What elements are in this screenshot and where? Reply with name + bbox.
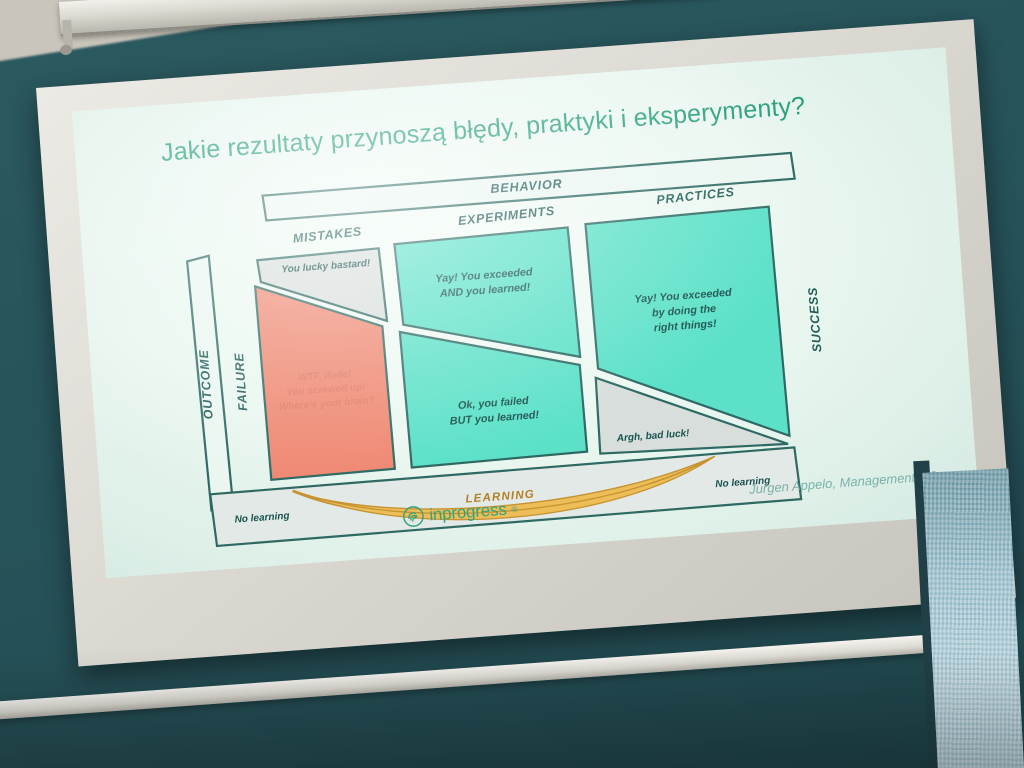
- room-scene: Jakie rezultaty przynoszą błędy, praktyk…: [0, 0, 1024, 768]
- presentation-slide: Jakie rezultaty przynoszą błędy, praktyk…: [72, 47, 980, 578]
- success-label: SUCCESS: [806, 286, 825, 352]
- roller-knob: [60, 45, 73, 56]
- inprogress-trademark: ®: [511, 504, 518, 513]
- roller-bracket: [62, 20, 73, 49]
- column-label-experiments: EXPERIMENTS: [457, 204, 555, 228]
- failure-label: FAILURE: [232, 352, 250, 411]
- outcome-axis-bar: OUTCOME: [187, 255, 234, 510]
- inprogress-logo-text: inprogress: [429, 500, 508, 526]
- inprogress-swirl-icon: [402, 505, 426, 529]
- projector-screen: Jakie rezultaty przynoszą błędy, praktyk…: [36, 19, 1016, 666]
- column-label-mistakes: MISTAKES: [292, 224, 362, 245]
- screen-frame: Jakie rezultaty przynoszą błędy, praktyk…: [36, 19, 1016, 666]
- wall-shadow: [0, 648, 1024, 768]
- management30-matrix-diagram: .stroke { stroke: #2b6a63; stroke-width:…: [174, 149, 839, 555]
